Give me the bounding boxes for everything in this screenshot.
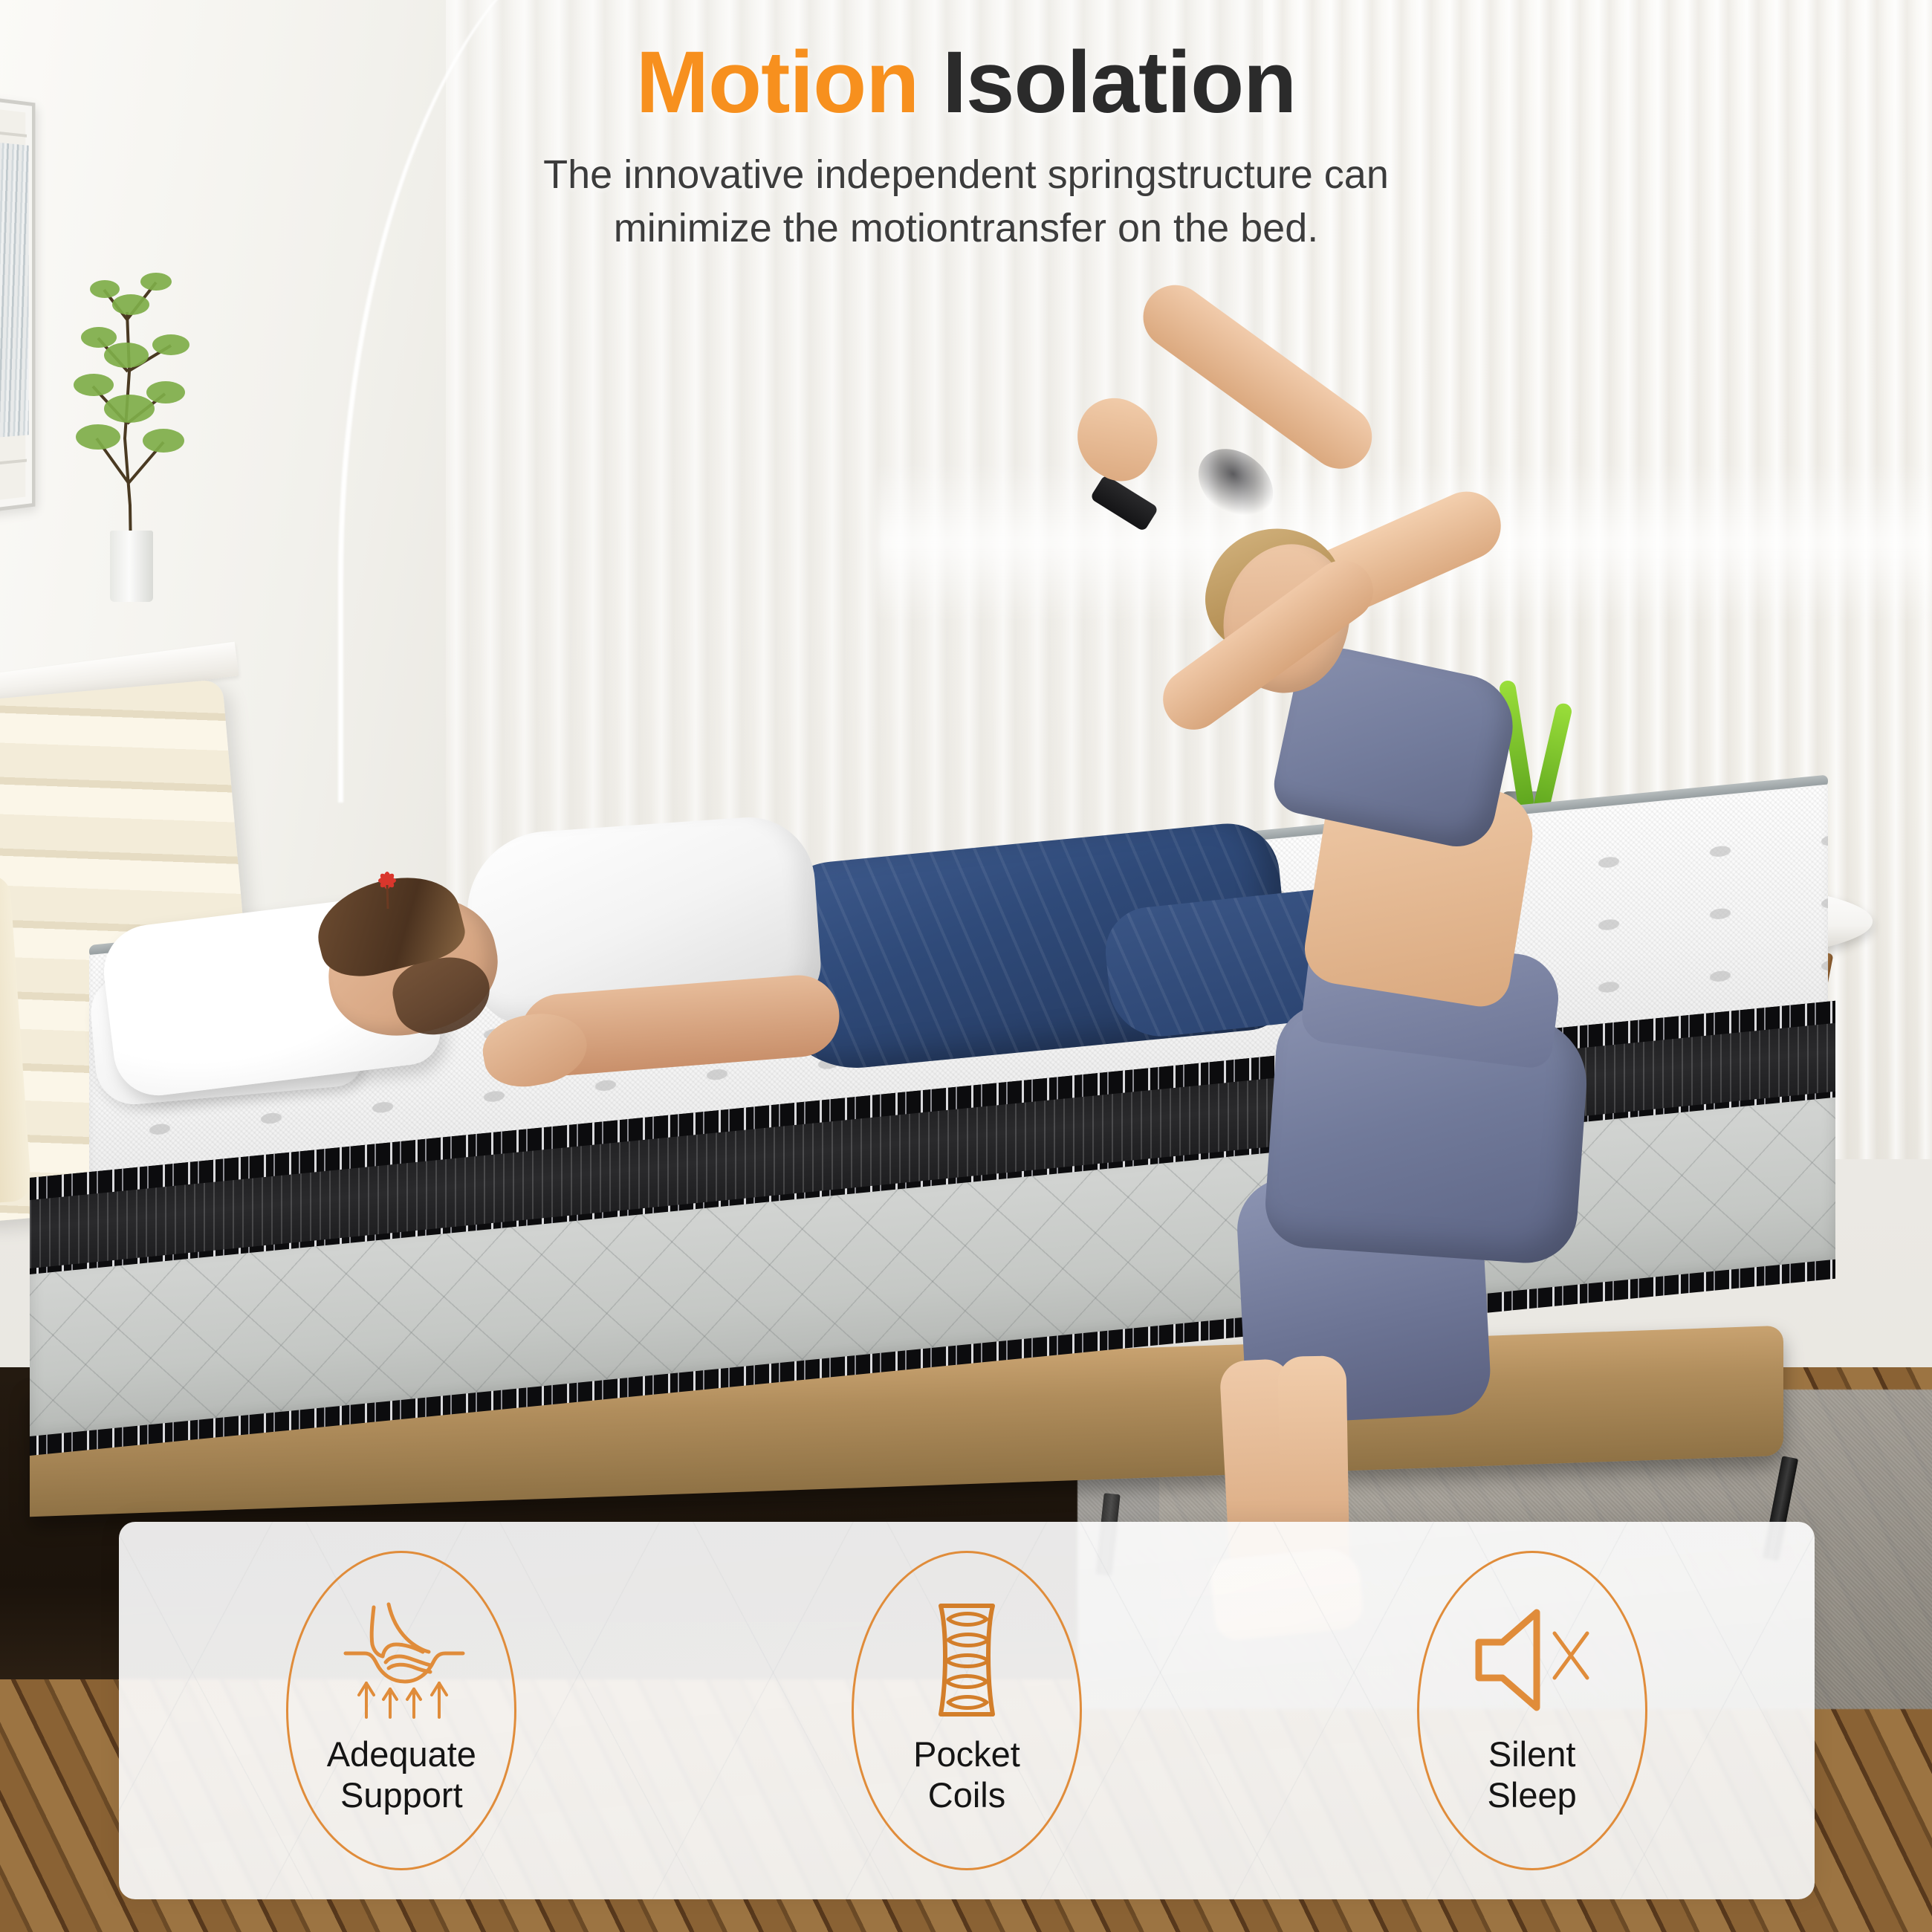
feature-pocket-coils[interactable]: Pocket Coils (852, 1551, 1082, 1870)
header-block: Motion Isolation The innovative independ… (0, 37, 1932, 256)
red-flower-decoration (370, 872, 404, 909)
plant-vase (110, 531, 153, 602)
feature-silent-sleep[interactable]: Silent Sleep (1417, 1551, 1647, 1870)
feature-label: Adequate Support (327, 1734, 476, 1816)
subtitle-line-1: The innovative independent springstructu… (0, 149, 1932, 202)
subtitle: The innovative independent springstructu… (0, 149, 1932, 256)
subtitle-line-2: minimize the motiontransfer on the bed. (0, 202, 1932, 256)
woman-stretching (1018, 431, 1553, 1486)
spring-coil-icon (918, 1593, 1015, 1727)
feature-label: Silent Sleep (1488, 1734, 1577, 1816)
woman-forearm-tattoo (1184, 435, 1286, 533)
feature-adequate-support[interactable]: Adequate Support (286, 1551, 516, 1870)
page-title: Motion Isolation (0, 37, 1932, 129)
title-highlight: Motion (636, 33, 919, 132)
title-rest: Isolation (918, 33, 1296, 132)
hand-press-support-icon (331, 1593, 472, 1727)
feature-label: Pocket Coils (913, 1734, 1020, 1816)
man-sleeping (245, 799, 1063, 1096)
woman-wrist-watch (1089, 474, 1158, 532)
product-marketing-image: Motion Isolation The innovative independ… (0, 0, 1932, 1932)
muted-speaker-icon (1465, 1593, 1599, 1727)
feature-card: Adequate Support Pocket Coils (119, 1522, 1815, 1899)
